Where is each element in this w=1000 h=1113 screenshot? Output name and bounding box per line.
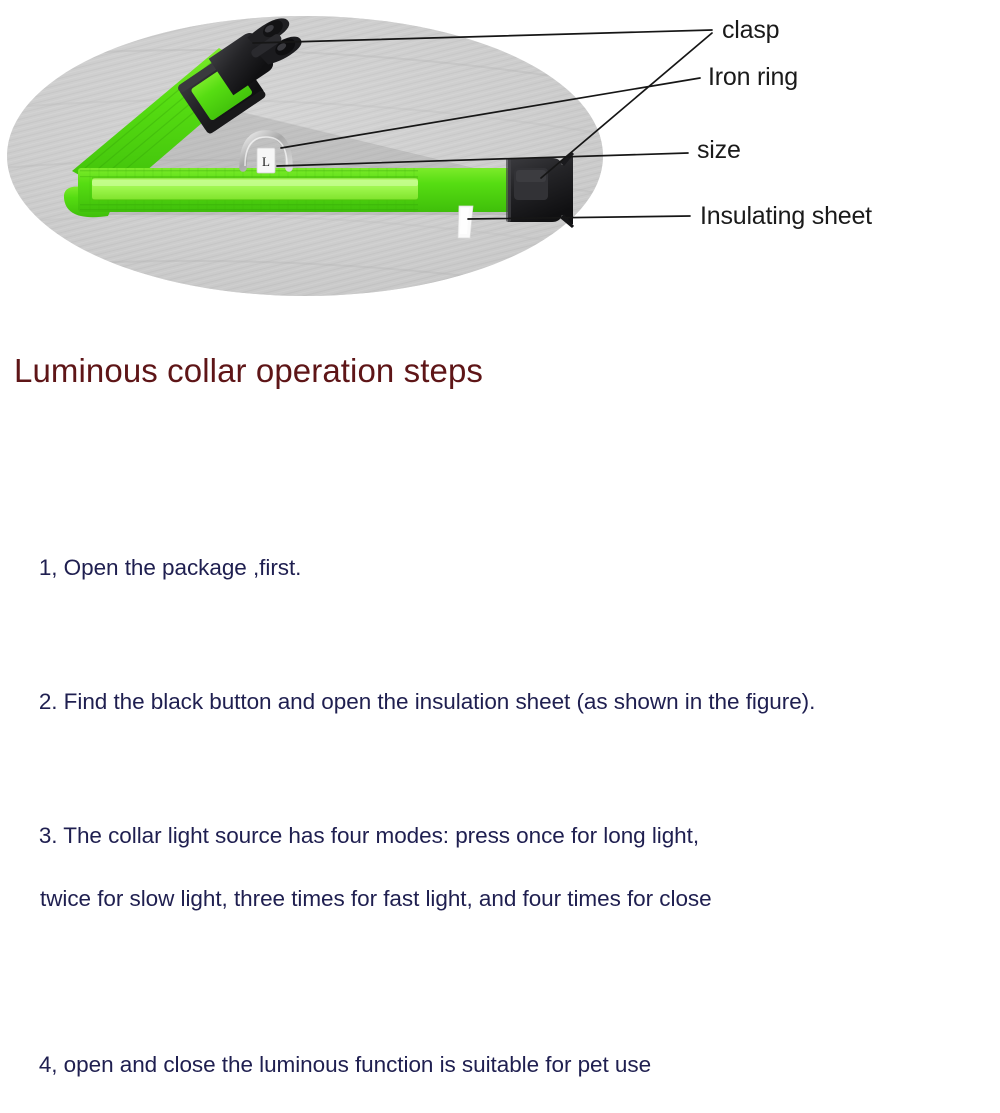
callout-label-iron-ring: Iron ring [708, 65, 798, 90]
callout-label-insulating-sheet: Insulating sheet [700, 204, 872, 229]
led-strip [92, 177, 418, 201]
svg-text:L: L [262, 154, 270, 169]
step-item-2: 2. Find the black button and open the in… [14, 654, 984, 750]
step-3-line-2: twice for slow light, three times for fa… [14, 883, 984, 915]
collar-illustration: L [0, 0, 1000, 310]
step-1-line-1: 1, Open the package ,first. [39, 555, 302, 580]
size-tag: L [257, 148, 275, 173]
step-3-line-1: 3. The collar light source has four mode… [39, 823, 699, 848]
operation-steps-list: 1, Open the package ,first. 2. Find the … [14, 520, 984, 1113]
product-diagram: L clasp I [0, 0, 1000, 310]
clasp-right [506, 152, 574, 228]
step-item-4: 4, open and close the luminous function … [14, 1017, 984, 1113]
step-item-3: 3. The collar light source has four mode… [14, 788, 984, 980]
insulating-sheet [458, 206, 473, 238]
callout-label-clasp: clasp [722, 18, 779, 43]
callout-label-size: size [697, 138, 741, 163]
page-title: Luminous collar operation steps [14, 352, 483, 390]
step-4-line-1: 4, open and close the luminous function … [39, 1052, 651, 1077]
step-item-1: 1, Open the package ,first. [14, 520, 984, 616]
step-2-line-1: 2. Find the black button and open the in… [39, 689, 816, 714]
